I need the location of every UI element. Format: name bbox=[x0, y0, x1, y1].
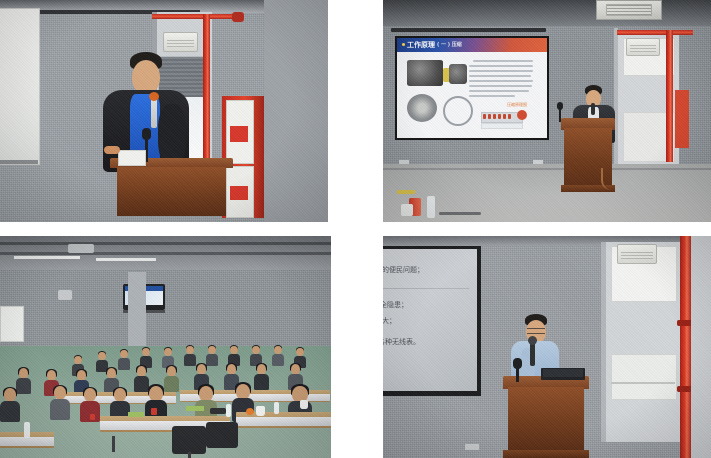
projection-divider bbox=[383, 288, 469, 289]
red-standpipe bbox=[680, 236, 691, 458]
projection-slide: 工作原理 ( 一 ) 压缩 压缩原理图 bbox=[397, 38, 547, 138]
chip-red-dot bbox=[517, 110, 527, 120]
desk-microphone-head bbox=[557, 102, 563, 110]
photo-top-left[interactable] bbox=[0, 0, 328, 222]
slide-bullet-icon bbox=[402, 43, 405, 46]
slide-text-line bbox=[469, 65, 533, 67]
desk-panel bbox=[0, 437, 54, 447]
photo-collage-page: 工作原理 ( 一 ) 压缩 压缩原理图 bbox=[0, 0, 711, 458]
rotor-diagram bbox=[407, 94, 437, 122]
podium bbox=[503, 376, 589, 458]
ac-vent bbox=[167, 40, 195, 47]
red-marker bbox=[90, 414, 95, 420]
white-container bbox=[401, 204, 413, 216]
photo-bottom-right[interactable]: 气的便民问题； 安全隐患； 力大； 及各种无线表。 消防管 bbox=[383, 236, 711, 458]
dark-device bbox=[210, 408, 226, 414]
ac-vent bbox=[621, 252, 653, 259]
chip-bar bbox=[488, 114, 491, 119]
slide-footer-caption: 压缩原理图 bbox=[507, 102, 527, 108]
chair-leg bbox=[188, 452, 191, 458]
podium-base bbox=[503, 450, 589, 458]
red-pipe-vertical bbox=[666, 30, 673, 162]
water-bottle bbox=[24, 422, 30, 438]
whiteboard bbox=[0, 306, 24, 342]
red-pipe-horizontal bbox=[617, 30, 693, 35]
orange-item bbox=[246, 408, 254, 415]
ceiling-beam bbox=[0, 242, 331, 245]
attendee bbox=[272, 346, 284, 366]
speaker-left-hand bbox=[104, 146, 120, 154]
cabinet-lower bbox=[611, 354, 677, 400]
ceiling-light bbox=[14, 256, 80, 259]
chair-leg bbox=[112, 436, 115, 452]
chip-bar bbox=[483, 114, 486, 119]
floor-socket bbox=[465, 444, 479, 450]
nameplate bbox=[118, 150, 146, 166]
slide-text-line bbox=[469, 70, 533, 72]
podium-body bbox=[508, 387, 584, 449]
chair bbox=[172, 426, 206, 454]
desk-microphone-head bbox=[513, 358, 522, 369]
compressor-diagram bbox=[407, 60, 443, 86]
water-bottle bbox=[274, 402, 279, 414]
photo-top-right[interactable]: 工作原理 ( 一 ) 压缩 压缩原理图 bbox=[383, 0, 711, 222]
floor-marking-yellow bbox=[397, 190, 415, 194]
cabinet-shelf-line bbox=[611, 382, 675, 384]
photo-bottom-left[interactable]: 携手共进，合作共赢 bbox=[0, 236, 331, 458]
floor-cable bbox=[439, 212, 481, 215]
slide-text-line bbox=[469, 75, 531, 77]
right-wall bbox=[264, 0, 328, 222]
door-frame-left bbox=[601, 242, 606, 442]
ceiling-beam bbox=[0, 252, 331, 255]
slide-text-line bbox=[469, 95, 515, 97]
podium bbox=[110, 158, 233, 222]
microphone-head bbox=[528, 336, 537, 345]
speaker-right-arm bbox=[158, 104, 186, 166]
doorway-air-conditioner bbox=[626, 38, 660, 56]
attendee bbox=[254, 364, 269, 390]
slide-text-line bbox=[469, 90, 529, 92]
compressor-part-dark bbox=[449, 64, 467, 84]
slide-subtitle: ( 一 ) 压缩 bbox=[437, 41, 462, 48]
projected-text-line-3: 力大； bbox=[383, 316, 396, 326]
ac-grille bbox=[606, 4, 652, 17]
projection-screen-frame: 工作原理 ( 一 ) 压缩 压缩原理图 bbox=[395, 36, 549, 140]
slide-text-line bbox=[469, 85, 532, 87]
laptop-screen bbox=[543, 369, 583, 377]
handheld-microphone bbox=[591, 103, 595, 115]
tea-cup bbox=[256, 406, 265, 416]
projected-text-line-1: 气的便民问题； bbox=[383, 265, 424, 275]
chip-caption-row bbox=[481, 123, 523, 129]
attendee bbox=[50, 386, 70, 420]
slide-title: 工作原理 bbox=[407, 40, 435, 50]
red-pipe-horizontal bbox=[152, 14, 242, 19]
chip-bar bbox=[508, 114, 511, 119]
attendee bbox=[206, 346, 218, 366]
attendee bbox=[0, 388, 20, 422]
desk-panel bbox=[236, 417, 331, 427]
chip-bar bbox=[498, 114, 501, 119]
water-bottle bbox=[427, 196, 435, 218]
ac-vent bbox=[630, 45, 657, 51]
air-conditioner bbox=[163, 32, 198, 52]
doorway-air-conditioner bbox=[617, 244, 657, 264]
glasses-icon bbox=[527, 328, 545, 334]
green-notepad bbox=[128, 412, 144, 417]
screen-mount-rail bbox=[391, 28, 546, 32]
speaker-head bbox=[132, 60, 160, 94]
podium-cable bbox=[601, 168, 613, 190]
slide-text-line bbox=[469, 80, 533, 82]
projected-text-line-4: 及各种无线表。 bbox=[383, 337, 420, 347]
ceiling-light bbox=[96, 258, 156, 261]
green-notepad bbox=[186, 406, 204, 411]
floor-line bbox=[383, 168, 711, 170]
water-bottle bbox=[226, 404, 231, 417]
podium-body bbox=[117, 167, 225, 216]
screen-bottom-bar bbox=[0, 160, 38, 164]
chair bbox=[206, 422, 238, 448]
chip-bar bbox=[493, 114, 496, 119]
ceiling-air-conditioner bbox=[596, 0, 662, 20]
projection-screen bbox=[0, 8, 40, 165]
wall-speaker bbox=[58, 290, 72, 300]
attendee bbox=[184, 346, 196, 366]
tea-cup bbox=[300, 400, 308, 409]
attendee bbox=[118, 350, 130, 370]
projector bbox=[68, 244, 94, 253]
fire-sign bbox=[675, 90, 689, 148]
desk-microphone-head bbox=[142, 128, 151, 140]
fire-cabinet-label bbox=[230, 126, 248, 142]
projected-text-line-2: 安全隐患； bbox=[383, 300, 408, 310]
column bbox=[128, 272, 146, 350]
chip-bar bbox=[503, 114, 506, 119]
slide-text-line bbox=[473, 60, 533, 62]
right-wall-strip bbox=[691, 236, 711, 458]
stator-ring-diagram bbox=[443, 96, 473, 126]
red-marker bbox=[151, 408, 157, 415]
microphone-head bbox=[149, 92, 159, 101]
pipe-elbow bbox=[232, 12, 244, 22]
